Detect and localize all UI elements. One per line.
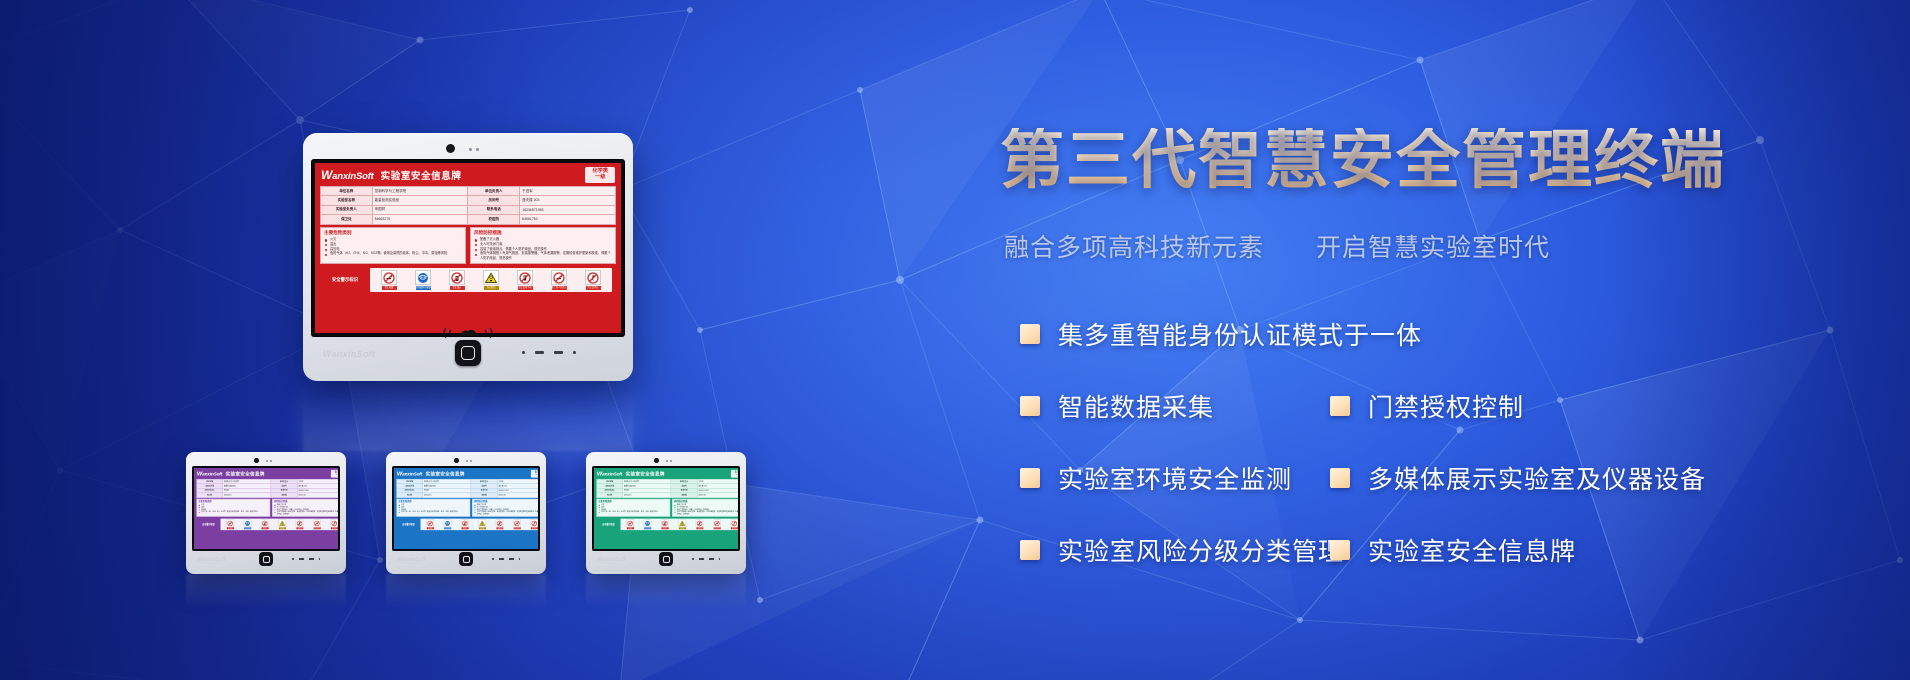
no-mobile-phone-icon: 禁止使用手机 bbox=[696, 520, 703, 529]
wear-goggles-icon: 必须戴防护眼镜 bbox=[244, 520, 251, 529]
lab-info-rows: 单位名称控制科学与工程学院单位负责人于进军实验室名称能量检测实验室房间号逸夫楼 … bbox=[397, 479, 538, 497]
feature-label: 实验室环境安全监测 bbox=[1058, 460, 1292, 496]
no-smoking-icon: 禁止吸烟 bbox=[382, 270, 397, 289]
thumb-top-bezel bbox=[589, 455, 743, 466]
sign-caption: 禁止使用手机 bbox=[296, 528, 303, 530]
thumbnail-reflection bbox=[186, 574, 346, 608]
info-label: 保卫处 bbox=[197, 493, 223, 498]
list-item: 危险气体（H2、CH4、NO、SO2等）使用及易燃的液体、粉尘、中毒、腐蚀等风险 bbox=[325, 251, 462, 256]
info-value: 84663270 bbox=[223, 493, 271, 498]
wanxinsoft-logo: WanxinSoft bbox=[197, 470, 222, 477]
info-label: 保卫处 bbox=[397, 493, 423, 498]
sensor-dots bbox=[266, 460, 272, 462]
safety-signs-label: 安全警示标识 bbox=[198, 523, 218, 526]
safety-signs-label: 安全警示标识 bbox=[398, 523, 418, 526]
hazard-list: 火灾溢出高压电危险气体（H2、CH4、NO、SO2等）使用及易燃的液体、粉尘、中… bbox=[325, 237, 462, 256]
no-entry-icon: 非工作人员禁入 bbox=[713, 520, 720, 529]
board-title: 实验室安全信息牌 bbox=[426, 470, 465, 477]
green-board-thumbnail[interactable]: WanxinSoft 实验室安全信息牌 化学类 一级 单位名称控制科学与工程学院… bbox=[586, 452, 746, 574]
safety-signs-box: 禁止吸烟必须戴防护眼镜禁止烟火当心腐蚀禁止使用手机非工作人员禁入禁止饮用水 bbox=[421, 519, 538, 530]
info-value: 84661760 bbox=[697, 493, 738, 498]
no-drinking-icon: 禁止饮用水 bbox=[331, 520, 338, 529]
warning-hazard-icon: 当心腐蚀 bbox=[679, 520, 686, 529]
page-subtitle: 融合多项高科技新元素 开启智慧实验室时代 bbox=[1004, 228, 1550, 264]
control-list: 配备了灭火器无人时关闭门窗容易了使用规点、佩戴个人防护用品、规范操作危险气体钢瓶… bbox=[474, 504, 538, 516]
sign-caption: 禁止使用手机 bbox=[696, 528, 703, 530]
sign-caption: 非工作人员禁入 bbox=[513, 528, 520, 530]
hero-text-column: 第三代智慧安全管理终端 融合多项高科技新元素 开启智慧实验室时代 集多重智能身份… bbox=[1000, 0, 1900, 680]
safety-signs-label: 安全警示标识 bbox=[324, 277, 366, 283]
feature-label: 多媒体展示实验室及仪器设备 bbox=[1368, 460, 1706, 496]
tablet-bottom-bezel: WanxinSoft bbox=[307, 337, 629, 375]
home-button[interactable] bbox=[459, 552, 473, 566]
indicator-lights bbox=[522, 351, 576, 354]
indicator-lights bbox=[692, 558, 720, 560]
info-value: 申国祥 bbox=[372, 205, 468, 214]
no-smoking-icon: 禁止吸烟 bbox=[627, 520, 634, 529]
sign-caption: 禁止饮用水 bbox=[331, 528, 338, 530]
purple-board-thumbnail[interactable]: WanxinSoft 实验室安全信息牌 化学类 一级 单位名称控制科学与工程学院… bbox=[186, 452, 346, 574]
tablet-screen[interactable]: WanxinSoft 实验室安全信息牌 化学类 一级 单位名称控制科学与工程学院… bbox=[315, 163, 621, 333]
thumb-screen-frame: WanxinSoft 实验室安全信息牌 化学类 一级 单位名称控制科学与工程学院… bbox=[592, 466, 740, 551]
no-open-flame-icon: 禁止烟火 bbox=[661, 520, 668, 529]
info-label: 保卫处 bbox=[597, 493, 623, 498]
board-header: WanxinSoft 实验室安全信息牌 化学类 一级 bbox=[394, 468, 538, 479]
table-row: 保卫处84663270校医院84661760 bbox=[321, 215, 616, 224]
board-panels: 主要危险类别 火灾溢出高压电危险气体（H2、CH4、NO、SO2等）使用及易燃的… bbox=[396, 499, 538, 517]
table-row: 保卫处84663270校医院84661760 bbox=[597, 493, 738, 498]
warning-hazard-icon: 当心腐蚀 bbox=[279, 520, 286, 529]
control-list: 配备了灭火器无人时关闭门窗容易了使用规点、佩戴个人防护用品、规范操作危险气体钢瓶… bbox=[475, 237, 612, 261]
feature-item[interactable]: 实验室安全信息牌 bbox=[1330, 532, 1576, 568]
safety-signs-row: 安全警示标识 禁止吸烟必须戴防护眼镜禁止烟火当心腐蚀禁止使用手机非工作人员禁入禁… bbox=[596, 518, 738, 531]
feature-list: 集多重智能身份认证模式于一体智能数据采集门禁授权控制实验室环境安全监测多媒体展示… bbox=[1000, 316, 1900, 604]
no-open-flame-icon: 禁止烟火 bbox=[461, 520, 468, 529]
board-body: 单位名称控制科学与工程学院单位负责人于进军实验室名称能量检测实验室房间号逸夫楼 … bbox=[394, 479, 538, 549]
feature-row: 实验室风险分级分类管理实验室安全信息牌 bbox=[1000, 532, 1900, 604]
square-bullet-icon bbox=[1020, 324, 1040, 344]
sign-caption: 非工作人员禁入 bbox=[313, 528, 320, 530]
warning-hazard-icon: 当心腐蚀 bbox=[484, 270, 499, 289]
sign-caption: 必须戴防护眼镜 bbox=[416, 286, 431, 289]
bezel-brand-label: WanxinSoft bbox=[198, 557, 225, 563]
sign-caption: 禁止烟火 bbox=[461, 528, 468, 530]
list-item: 危险气体钢瓶入专用气瓶室、安装报警器、气体泄漏报警、定期检查维护更新和校准、佩戴… bbox=[474, 511, 538, 516]
sign-caption: 非工作人员禁入 bbox=[552, 286, 567, 289]
info-label: 单位名称 bbox=[321, 186, 373, 195]
no-entry-icon: 非工作人员禁入 bbox=[313, 520, 320, 529]
lab-info-table: 单位名称控制科学与工程学院单位负责人于进军实验室名称能量检测实验室房间号逸夫楼 … bbox=[320, 186, 616, 225]
table-row: 单位名称控制科学与工程学院单位负责人于进军 bbox=[321, 186, 616, 195]
safety-signs-row: 安全警示标识 禁止吸烟必须戴防护眼镜禁止烟火当心腐蚀禁止使用手机非工作人员禁入禁… bbox=[196, 518, 338, 531]
square-bullet-icon bbox=[1020, 540, 1040, 560]
sign-caption: 禁止烟火 bbox=[261, 528, 268, 530]
hazard-list: 火灾溢出高压电危险气体（H2、CH4、NO、SO2等）使用及易燃的液体、粉尘、中… bbox=[199, 504, 268, 513]
lab-info-rows: 单位名称控制科学与工程学院单位负责人于进军实验室名称能量检测实验室房间号逸夫楼 … bbox=[597, 479, 738, 497]
blue-board-thumbnail[interactable]: WanxinSoft 实验室安全信息牌 化学类 一级 单位名称控制科学与工程学院… bbox=[386, 452, 546, 574]
board-title: 实验室安全信息牌 bbox=[381, 168, 462, 182]
square-bullet-icon bbox=[1020, 396, 1040, 416]
hazard-panel-title: 主要危险类别 bbox=[321, 228, 465, 237]
feature-item[interactable]: 门禁授权控制 bbox=[1330, 388, 1524, 424]
sign-caption: 必须戴防护眼镜 bbox=[444, 528, 451, 530]
control-measures-panel: 风险防控措施 配备了灭火器无人时关闭门窗容易了使用规点、佩戴个人防护用品、规范操… bbox=[672, 499, 738, 517]
camera-icon bbox=[254, 458, 259, 463]
bezel-brand-label: WanxinSoft bbox=[598, 557, 625, 563]
indicator-lights bbox=[292, 558, 320, 560]
board-header: WanxinSoft 实验室安全信息牌 化学类 一级 bbox=[594, 468, 738, 479]
control-panel-title: 风险防控措施 bbox=[471, 228, 615, 237]
board-title: 实验室安全信息牌 bbox=[226, 470, 265, 477]
thumb-bottom-bezel: WanxinSoft bbox=[389, 551, 543, 571]
thumbnail-reflection bbox=[386, 574, 546, 608]
safety-signs-label: 安全警示标识 bbox=[598, 523, 618, 526]
table-row: 实验室名称能量检测实验室房间号逸夫楼 203 bbox=[321, 196, 616, 205]
table-row: 保卫处84663270校医院84661760 bbox=[197, 493, 338, 498]
list-item: 危险气体（H2、CH4、NO、SO2等）使用及易燃的液体、粉尘、中毒、腐蚀等风险 bbox=[599, 511, 668, 513]
sign-caption: 禁止使用手机 bbox=[496, 528, 503, 530]
page-title: 第三代智慧安全管理终端 bbox=[1000, 128, 1726, 192]
control-list: 配备了灭火器无人时关闭门窗容易了使用规点、佩戴个人防护用品、规范操作危险气体钢瓶… bbox=[274, 504, 338, 516]
info-label: 单位负责人 bbox=[468, 186, 520, 195]
nfc-reader-icon bbox=[442, 325, 494, 341]
camera-icon bbox=[446, 144, 455, 153]
no-mobile-phone-icon: 禁止使用手机 bbox=[518, 270, 533, 289]
thumb-screen[interactable]: WanxinSoft 实验室安全信息牌 化学类 一级 单位名称控制科学与工程学院… bbox=[594, 468, 738, 549]
info-value: 84663270 bbox=[423, 493, 471, 498]
no-mobile-phone-icon: 禁止使用手机 bbox=[496, 520, 503, 529]
safety-info-board: WanxinSoft 实验室安全信息牌 化学类 一级 单位名称控制科学与工程学院… bbox=[315, 163, 621, 333]
hazard-class-badge: 化学类 一级 bbox=[531, 470, 538, 478]
thumb-screen[interactable]: WanxinSoft 实验室安全信息牌 化学类 一级 单位名称控制科学与工程学院… bbox=[394, 468, 538, 549]
board-header: WanxinSoft 实验室安全信息牌 化学类 一级 bbox=[315, 163, 621, 186]
safety-info-board: WanxinSoft 实验室安全信息牌 化学类 一级 单位名称控制科学与工程学院… bbox=[194, 468, 338, 549]
safety-signs-row: 安全警示标识 禁止吸烟必须戴防护眼镜禁止烟火当心腐蚀禁止使用手机非工作人员禁入禁… bbox=[396, 518, 538, 531]
info-label: 实验室负责人 bbox=[321, 205, 373, 214]
info-label: 校医院 bbox=[271, 493, 297, 498]
feature-label: 门禁授权控制 bbox=[1368, 388, 1524, 424]
list-item: 危险气体钢瓶入专用气瓶室、安装报警器、气体泄漏报警、定期检查维护更新和校准、佩戴… bbox=[475, 251, 612, 261]
no-mobile-phone-icon: 禁止使用手机 bbox=[296, 520, 303, 529]
home-button[interactable] bbox=[455, 340, 481, 366]
control-measures-panel: 风险防控措施 配备了灭火器无人时关闭门窗容易了使用规点、佩戴个人防护用品、规范操… bbox=[272, 499, 338, 517]
safety-info-board: WanxinSoft 实验室安全信息牌 化学类 一级 单位名称控制科学与工程学院… bbox=[394, 468, 538, 549]
table-row: 保卫处84663270校医院84661760 bbox=[397, 493, 538, 498]
lab-info-rows: 单位名称控制科学与工程学院单位负责人于进军实验室名称能量检测实验室房间号逸夫楼 … bbox=[321, 186, 616, 224]
tablet-screen-frame: WanxinSoft 实验室安全信息牌 化学类 一级 单位名称控制科学与工程学院… bbox=[311, 159, 625, 337]
feature-label: 实验室风险分级分类管理 bbox=[1058, 532, 1344, 568]
hazard-category-panel: 主要危险类别 火灾溢出高压电危险气体（H2、CH4、NO、SO2等）使用及易燃的… bbox=[320, 227, 466, 264]
sign-caption: 禁止吸烟 bbox=[382, 286, 397, 289]
sign-caption: 禁止吸烟 bbox=[427, 528, 434, 530]
wanxinsoft-logo: WanxinSoft bbox=[397, 470, 422, 477]
sign-caption: 当心腐蚀 bbox=[679, 528, 686, 530]
info-value: 于进军 bbox=[520, 186, 616, 195]
board-title: 实验室安全信息牌 bbox=[626, 470, 665, 477]
sign-caption: 禁止吸烟 bbox=[227, 528, 234, 530]
info-label: 房间号 bbox=[468, 196, 520, 205]
wear-goggles-icon: 必须戴防护眼镜 bbox=[644, 520, 651, 529]
square-bullet-icon bbox=[1330, 540, 1350, 560]
info-value: 控制科学与工程学院 bbox=[372, 186, 468, 195]
no-entry-icon: 非工作人员禁入 bbox=[552, 270, 567, 289]
safety-signs-box: 禁止吸烟必须戴防护眼镜禁止烟火当心腐蚀禁止使用手机非工作人员禁入禁止饮用水 bbox=[621, 519, 738, 530]
hazard-category-panel: 主要危险类别 火灾溢出高压电危险气体（H2、CH4、NO、SO2等）使用及易燃的… bbox=[396, 499, 470, 517]
sign-caption: 当心腐蚀 bbox=[484, 286, 499, 289]
info-label: 实验室名称 bbox=[321, 196, 373, 205]
feature-item[interactable]: 多媒体展示实验室及仪器设备 bbox=[1330, 460, 1706, 496]
board-body: 单位名称控制科学与工程学院单位负责人于进军实验室名称能量检测实验室房间号逸夫楼 … bbox=[315, 186, 621, 333]
hazard-class-badge: 化学类 一级 bbox=[731, 470, 738, 478]
info-value: 18236571955 bbox=[520, 205, 616, 214]
info-value: 84661760 bbox=[520, 215, 616, 224]
feature-row: 集多重智能身份认证模式于一体 bbox=[1000, 316, 1900, 388]
hazard-class-badge: 化学类 一级 bbox=[331, 470, 338, 478]
info-value: 84661760 bbox=[297, 493, 338, 498]
wear-goggles-icon: 必须戴防护眼镜 bbox=[416, 270, 431, 289]
feature-row: 实验室环境安全监测多媒体展示实验室及仪器设备 bbox=[1000, 460, 1900, 532]
info-label: 校医院 bbox=[671, 493, 697, 498]
thumb-top-bezel bbox=[389, 455, 543, 466]
sensor-dots bbox=[466, 460, 472, 462]
lab-info-table: 单位名称控制科学与工程学院单位负责人于进军实验室名称能量检测实验室房间号逸夫楼 … bbox=[396, 479, 538, 498]
camera-icon bbox=[454, 458, 459, 463]
no-open-flame-icon: 禁止烟火 bbox=[261, 520, 268, 529]
safety-signs-box: 禁止吸烟必须戴防护眼镜禁止烟火当心腐蚀禁止使用手机非工作人员禁入禁止饮用水 bbox=[221, 519, 338, 530]
info-value: 84663270 bbox=[623, 493, 671, 498]
no-smoking-icon: 禁止吸烟 bbox=[227, 520, 234, 529]
list-item: 危险气体（H2、CH4、NO、SO2等）使用及易燃的液体、粉尘、中毒、腐蚀等风险 bbox=[399, 511, 468, 513]
hazard-category-panel: 主要危险类别 火灾溢出高压电危险气体（H2、CH4、NO、SO2等）使用及易燃的… bbox=[596, 499, 670, 517]
sign-caption: 当心腐蚀 bbox=[279, 528, 286, 530]
sign-caption: 禁止饮用水 bbox=[531, 528, 538, 530]
feature-item[interactable]: 实验室环境安全监测 bbox=[1020, 460, 1292, 496]
info-value: 逸夫楼 203 bbox=[520, 196, 616, 205]
thumb-screen[interactable]: WanxinSoft 实验室安全信息牌 化学类 一级 单位名称控制科学与工程学院… bbox=[194, 468, 338, 549]
thumb-bottom-bezel: WanxinSoft bbox=[589, 551, 743, 571]
square-bullet-icon bbox=[1330, 468, 1350, 488]
sensor-dots bbox=[469, 148, 479, 151]
board-panels: 主要危险类别 火灾溢出高压电危险气体（H2、CH4、NO、SO2等）使用及易燃的… bbox=[596, 499, 738, 517]
feature-label: 集多重智能身份认证模式于一体 bbox=[1058, 316, 1422, 352]
hazard-list: 火灾溢出高压电危险气体（H2、CH4、NO、SO2等）使用及易燃的液体、粉尘、中… bbox=[599, 504, 668, 513]
square-bullet-icon bbox=[1020, 468, 1040, 488]
hazard-class-badge: 化学类 一级 bbox=[585, 167, 615, 183]
no-open-flame-icon: 禁止烟火 bbox=[450, 270, 465, 289]
warning-hazard-icon: 当心腐蚀 bbox=[479, 520, 486, 529]
feature-label: 实验室安全信息牌 bbox=[1368, 532, 1576, 568]
sensor-dots bbox=[666, 460, 672, 462]
list-item: 危险气体（H2、CH4、NO、SO2等）使用及易燃的液体、粉尘、中毒、腐蚀等风险 bbox=[199, 511, 268, 513]
sign-caption: 必须戴防护眼镜 bbox=[244, 528, 251, 530]
table-row: 实验室负责人申国祥联系电话18236571955 bbox=[321, 205, 616, 214]
thumb-screen-frame: WanxinSoft 实验室安全信息牌 化学类 一级 单位名称控制科学与工程学院… bbox=[392, 466, 540, 551]
feature-item[interactable]: 集多重智能身份认证模式于一体 bbox=[1020, 316, 1422, 352]
bezel-brand-label: WanxinSoft bbox=[323, 349, 375, 359]
sign-caption: 禁止饮用水 bbox=[586, 286, 601, 289]
hazard-list: 火灾溢出高压电危险气体（H2、CH4、NO、SO2等）使用及易燃的液体、粉尘、中… bbox=[399, 504, 468, 513]
bezel-brand-label: WanxinSoft bbox=[398, 557, 425, 563]
sign-caption: 必须戴防护眼镜 bbox=[644, 528, 651, 530]
tablet-reflection bbox=[303, 381, 633, 451]
home-button[interactable] bbox=[259, 552, 273, 566]
list-item: 危险气体钢瓶入专用气瓶室、安装报警器、气体泄漏报警、定期检查维护更新和校准、佩戴… bbox=[274, 511, 338, 516]
control-measures-panel: 风险防控措施 配备了灭火器无人时关闭门窗容易了使用规点、佩戴个人防护用品、规范操… bbox=[472, 499, 538, 517]
feature-label: 智能数据采集 bbox=[1058, 388, 1214, 424]
tablet-top-bezel bbox=[307, 137, 629, 159]
board-panels: 主要危险类别 火灾溢出高压电危险气体（H2、CH4、NO、SO2等）使用及易燃的… bbox=[196, 499, 338, 517]
info-label: 保卫处 bbox=[321, 215, 373, 224]
control-list: 配备了灭火器无人时关闭门窗容易了使用规点、佩戴个人防护用品、规范操作危险气体钢瓶… bbox=[674, 504, 738, 516]
sign-caption: 当心腐蚀 bbox=[479, 528, 486, 530]
thumbnail-reflection bbox=[586, 574, 746, 608]
safety-signs-box: 禁止吸烟必须戴防护眼镜禁止烟火当心腐蚀禁止使用手机非工作人员禁入禁止饮用水 bbox=[370, 268, 612, 291]
sign-caption: 禁止烟火 bbox=[450, 286, 465, 289]
thumb-screen-frame: WanxinSoft 实验室安全信息牌 化学类 一级 单位名称控制科学与工程学院… bbox=[192, 466, 340, 551]
thumb-bottom-bezel: WanxinSoft bbox=[189, 551, 343, 571]
no-drinking-icon: 禁止饮用水 bbox=[586, 270, 601, 289]
feature-row: 智能数据采集门禁授权控制 bbox=[1000, 388, 1900, 460]
wanxinsoft-logo: WanxinSoft bbox=[597, 470, 622, 477]
board-header: WanxinSoft 实验室安全信息牌 化学类 一级 bbox=[194, 468, 338, 479]
feature-item[interactable]: 实验室风险分级分类管理 bbox=[1020, 532, 1344, 568]
lab-info-table: 单位名称控制科学与工程学院单位负责人于进军实验室名称能量检测实验室房间号逸夫楼 … bbox=[596, 479, 738, 498]
hero-banner: WanxinSoft 实验室安全信息牌 化学类 一级 单位名称控制科学与工程学院… bbox=[0, 0, 1910, 680]
sign-caption: 禁止烟火 bbox=[661, 528, 668, 530]
sign-caption: 禁止使用手机 bbox=[518, 286, 533, 289]
wear-goggles-icon: 必须戴防护眼镜 bbox=[444, 520, 451, 529]
main-tablet-device: WanxinSoft 实验室安全信息牌 化学类 一级 单位名称控制科学与工程学院… bbox=[303, 133, 633, 381]
info-label: 校医院 bbox=[468, 215, 520, 224]
no-entry-icon: 非工作人员禁入 bbox=[513, 520, 520, 529]
info-label: 联系电话 bbox=[468, 205, 520, 214]
hazard-category-panel: 主要危险类别 火灾溢出高压电危险气体（H2、CH4、NO、SO2等）使用及易燃的… bbox=[196, 499, 270, 517]
info-value: 84661760 bbox=[497, 493, 538, 498]
no-drinking-icon: 禁止饮用水 bbox=[731, 520, 738, 529]
home-button[interactable] bbox=[659, 552, 673, 566]
camera-icon bbox=[654, 458, 659, 463]
thumb-top-bezel bbox=[189, 455, 343, 466]
list-item: 危险气体钢瓶入专用气瓶室、安装报警器、气体泄漏报警、定期检查维护更新和校准、佩戴… bbox=[674, 511, 738, 516]
square-bullet-icon bbox=[1330, 396, 1350, 416]
safety-signs-row: 安全警示标识 禁止吸烟必须戴防护眼镜禁止烟火当心腐蚀禁止使用手机非工作人员禁入禁… bbox=[320, 266, 616, 293]
no-drinking-icon: 禁止饮用水 bbox=[531, 520, 538, 529]
info-value: 能量检测实验室 bbox=[372, 196, 468, 205]
control-measures-panel: 风险防控措施 配备了灭火器无人时关闭门窗容易了使用规点、佩戴个人防护用品、规范操… bbox=[470, 227, 616, 264]
no-smoking-icon: 禁止吸烟 bbox=[427, 520, 434, 529]
sign-caption: 禁止饮用水 bbox=[731, 528, 738, 530]
safety-info-board: WanxinSoft 实验室安全信息牌 化学类 一级 单位名称控制科学与工程学院… bbox=[594, 468, 738, 549]
sign-caption: 禁止吸烟 bbox=[627, 528, 634, 530]
board-body: 单位名称控制科学与工程学院单位负责人于进军实验室名称能量检测实验室房间号逸夫楼 … bbox=[594, 479, 738, 549]
wanxinsoft-logo: WanxinSoft bbox=[321, 168, 374, 182]
lab-info-table: 单位名称控制科学与工程学院单位负责人于进军实验室名称能量检测实验室房间号逸夫楼 … bbox=[196, 479, 338, 498]
indicator-lights bbox=[492, 558, 520, 560]
sign-caption: 非工作人员禁入 bbox=[713, 528, 720, 530]
lab-info-rows: 单位名称控制科学与工程学院单位负责人于进军实验室名称能量检测实验室房间号逸夫楼 … bbox=[197, 479, 338, 497]
board-panels: 主要危险类别 火灾溢出高压电危险气体（H2、CH4、NO、SO2等）使用及易燃的… bbox=[320, 227, 616, 264]
info-value: 84663270 bbox=[372, 215, 468, 224]
board-body: 单位名称控制科学与工程学院单位负责人于进军实验室名称能量检测实验室房间号逸夫楼 … bbox=[194, 479, 338, 549]
info-label: 校医院 bbox=[471, 493, 497, 498]
feature-item[interactable]: 智能数据采集 bbox=[1020, 388, 1214, 424]
